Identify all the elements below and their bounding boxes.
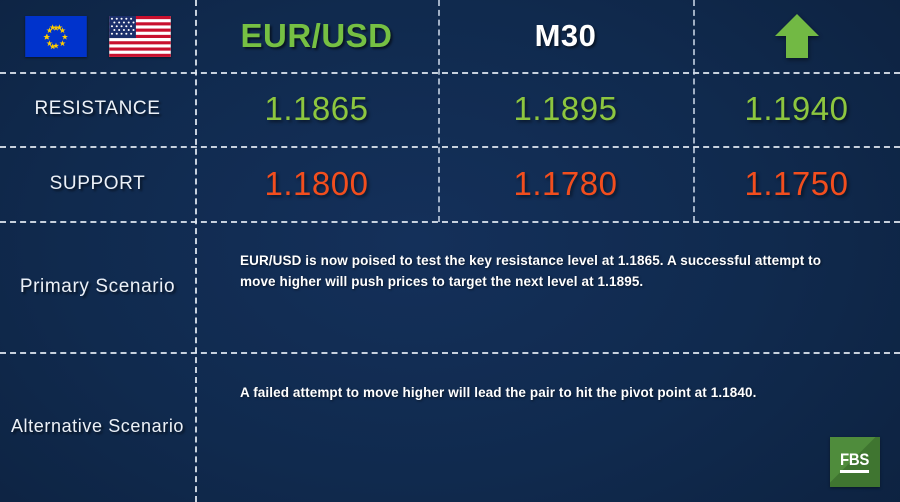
fbs-logo: FBS xyxy=(830,437,880,487)
currency-pair-cell: EUR/USD xyxy=(195,0,438,72)
alternative-scenario-text: A failed attempt to move higher will lea… xyxy=(240,383,820,404)
divider-label-column xyxy=(195,0,197,502)
support-row-label-cell: SUPPORT xyxy=(0,146,195,221)
trend-cell xyxy=(693,0,900,72)
currency-flags xyxy=(0,0,195,72)
alternative-scenario-label-cell: Alternative Scenario xyxy=(0,352,195,502)
arrow-up-icon xyxy=(774,12,820,60)
support-value-1-cell: 1.1800 xyxy=(195,146,438,221)
divider-header-bottom xyxy=(0,72,900,74)
resistance-value-1: 1.1865 xyxy=(265,90,369,128)
support-value-3: 1.1750 xyxy=(745,165,849,203)
divider-column-1 xyxy=(438,0,440,222)
timeframe-cell: M30 xyxy=(438,0,693,72)
support-value-2: 1.1780 xyxy=(514,165,618,203)
currency-pair-label: EUR/USD xyxy=(240,17,392,55)
resistance-value-3: 1.1940 xyxy=(745,90,849,128)
divider-primary-bottom xyxy=(0,352,900,354)
resistance-label: RESISTANCE xyxy=(34,96,160,121)
resistance-row-label-cell: RESISTANCE xyxy=(0,72,195,146)
support-value-2-cell: 1.1780 xyxy=(438,146,693,221)
support-value-1: 1.1800 xyxy=(265,165,369,203)
divider-resistance-bottom xyxy=(0,146,900,148)
primary-scenario-label-cell: Primary Scenario xyxy=(0,221,195,352)
support-value-3-cell: 1.1750 xyxy=(693,146,900,221)
us-flag xyxy=(109,16,171,57)
primary-scenario-text: EUR/USD is now poised to test the key re… xyxy=(240,251,858,293)
forex-signal-card: EUR/USD M30 RESISTANCE 1.1865 1.1895 1.1… xyxy=(0,0,900,502)
alternative-scenario-label: Alternative Scenario xyxy=(11,415,184,439)
resistance-value-1-cell: 1.1865 xyxy=(195,72,438,146)
divider-column-2 xyxy=(693,0,695,222)
primary-scenario-label: Primary Scenario xyxy=(20,274,175,299)
support-label: SUPPORT xyxy=(50,171,146,196)
divider-support-bottom xyxy=(0,221,900,223)
fbs-logo-text: FBS xyxy=(840,451,869,473)
resistance-value-3-cell: 1.1940 xyxy=(693,72,900,146)
resistance-value-2-cell: 1.1895 xyxy=(438,72,693,146)
eu-flag xyxy=(25,16,87,57)
timeframe-label: M30 xyxy=(535,18,597,54)
resistance-value-2: 1.1895 xyxy=(514,90,618,128)
